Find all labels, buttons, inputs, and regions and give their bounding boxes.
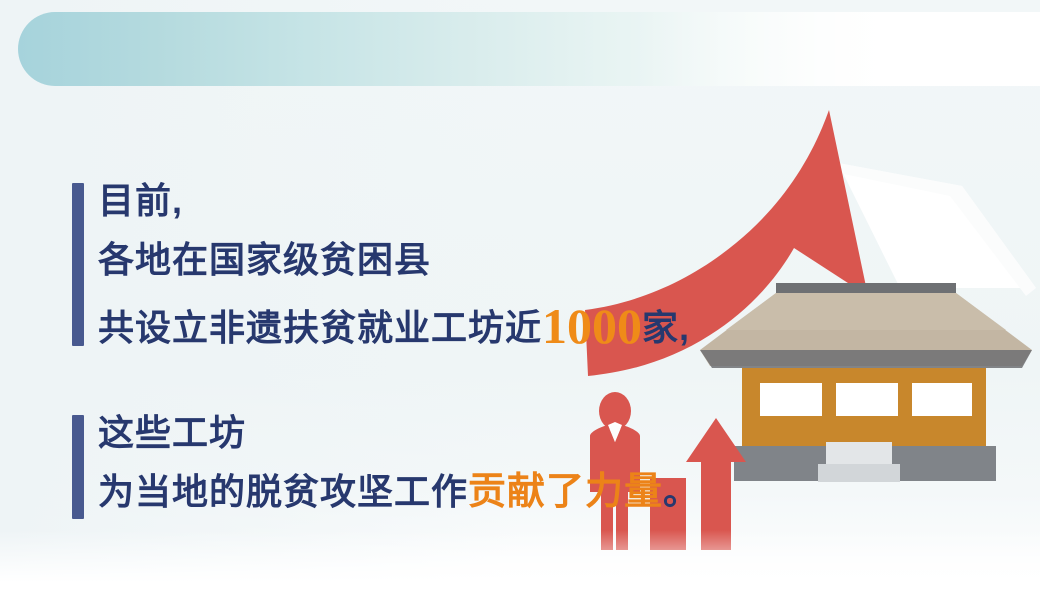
workshop-count-highlight: 1000 (542, 298, 642, 354)
statement-one-line-3: 共设立非遗扶贫就业工坊近1000家, (98, 301, 690, 351)
decorative-gradient-bar-fade (640, 12, 1040, 86)
statement-two-line-2: 为当地的脱贫攻坚工作贡献了力量。 (98, 473, 700, 511)
contribution-highlight: 贡献了力量 (468, 471, 663, 513)
statement-one-line-2-text: 各地在国家级贫困县 (98, 239, 431, 280)
statement-one-line-3-text: 共设立非遗扶贫就业工坊近 (98, 307, 542, 348)
statement-one-lines: 目前, 各地在国家级贫困县 共设立非遗扶贫就业工坊近1000家, (98, 183, 690, 351)
statement-two-line-2-tail: 。 (663, 471, 700, 512)
statement-one-line-3-tail: 家, (642, 307, 690, 348)
background-bottom-wash (0, 530, 1040, 600)
statement-two-accent-bar (72, 415, 84, 519)
statement-two-lines: 这些工坊 为当地的脱贫攻坚工作贡献了力量。 (98, 415, 700, 511)
statement-one-line-2: 各地在国家级贫困县 (98, 242, 690, 278)
statement-one-line-1-text: 目前, (98, 180, 183, 221)
statement-two-line-1: 这些工坊 (98, 415, 700, 451)
statement-one-accent-bar (72, 183, 84, 346)
infographic-poster: 目前, 各地在国家级贫困县 共设立非遗扶贫就业工坊近1000家, 这些工坊 为当… (0, 0, 1040, 600)
statement-one-line-1: 目前, (98, 183, 690, 219)
statement-two-line-2-text: 为当地的脱贫攻坚工作 (98, 471, 468, 512)
statement-two-line-1-text: 这些工坊 (98, 412, 246, 453)
